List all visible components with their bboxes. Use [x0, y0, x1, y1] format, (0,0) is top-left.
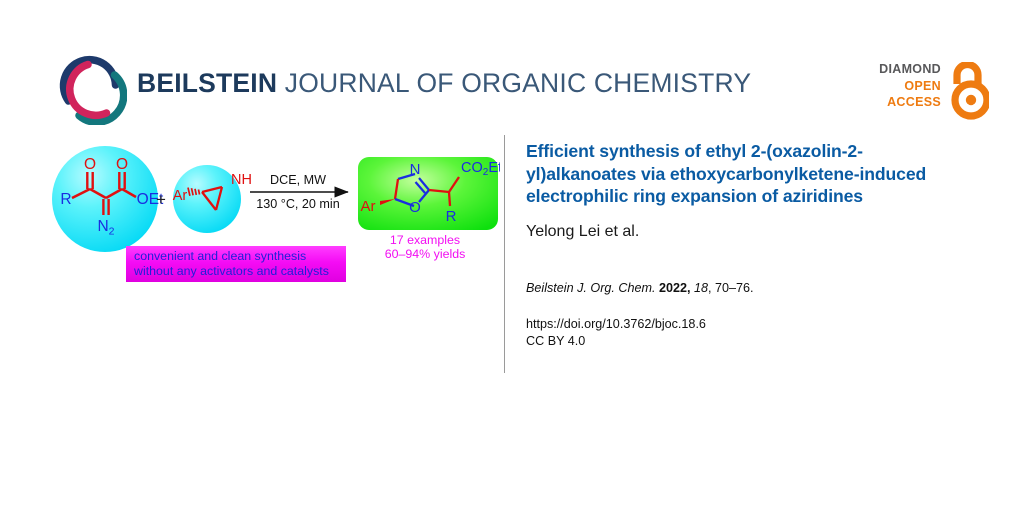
- diamond-open-access-badge: DIAMOND OPEN ACCESS: [869, 60, 989, 122]
- oa-label-diamond: DIAMOND: [879, 61, 941, 78]
- open-access-label-group: DIAMOND OPEN ACCESS: [879, 61, 941, 111]
- graphical-abstract-canvas: O O R OEt N2 + Ar NH: [30, 132, 500, 387]
- reactant-aziridine-group: Ar NH: [173, 165, 252, 233]
- beilstein-swirl-logo-icon: [57, 55, 127, 125]
- reactant-diazo-group: O O R OEt N2: [52, 146, 164, 252]
- article-authors: Yelong Lei et al.: [526, 222, 968, 242]
- label-oxygen-right: O: [116, 156, 128, 173]
- reaction-arrow-group: DCE, MW 130 °C, 20 min: [250, 173, 348, 211]
- article-title[interactable]: Efficient synthesis of ethyl 2-(oxazolin…: [526, 140, 968, 208]
- label-oxygen-product: O: [409, 199, 421, 216]
- label-co2et: CO2Et: [461, 160, 500, 178]
- article-info-panel: Efficient synthesis of ethyl 2-(oxazolin…: [526, 140, 968, 351]
- label-nh: NH: [231, 172, 252, 188]
- journal-title-rest: JOURNAL OF ORGANIC CHEMISTRY: [285, 68, 751, 98]
- results-line-yields: 60–94% yields: [385, 247, 466, 261]
- open-padlock-icon: [947, 62, 989, 120]
- label-r-group: R: [60, 191, 71, 208]
- label-oxygen-left: O: [84, 156, 96, 173]
- plus-sign: +: [156, 190, 166, 209]
- highlight-line-2: without any activators and catalysts: [133, 264, 329, 278]
- graphical-abstract: O O R OEt N2 + Ar NH: [30, 132, 500, 382]
- product-oxazoline-group: N O Ar CO2Et R: [358, 157, 500, 230]
- oa-label-access: ACCESS: [879, 94, 941, 111]
- label-nitrogen-product: N: [410, 161, 421, 178]
- article-citation: Beilstein J. Org. Chem. 2022, 18, 70–76.: [526, 280, 968, 297]
- masthead: BEILSTEIN JOURNAL OF ORGANIC CHEMISTRY D…: [0, 0, 1024, 132]
- citation-volume: 18: [694, 281, 708, 295]
- arrow-condition-below: 130 °C, 20 min: [256, 197, 339, 211]
- label-aryl-product: Ar: [361, 198, 376, 215]
- arrow-condition-above: DCE, MW: [270, 173, 326, 187]
- journal-title: BEILSTEIN JOURNAL OF ORGANIC CHEMISTRY: [137, 68, 751, 99]
- citation-pages: , 70–76.: [708, 281, 754, 295]
- journal-title-bold: BEILSTEIN: [137, 68, 277, 98]
- doi-link[interactable]: https://doi.org/10.3762/bjoc.18.6: [526, 316, 968, 334]
- results-line-examples: 17 examples: [390, 233, 460, 247]
- highlight-box: convenient and clean synthesis without a…: [126, 246, 346, 282]
- citation-journal: Beilstein J. Org. Chem.: [526, 281, 655, 295]
- vertical-divider: [504, 135, 505, 373]
- label-aryl-reactant: Ar: [173, 188, 188, 204]
- citation-year: 2022,: [659, 281, 691, 295]
- label-r-product: R: [446, 208, 457, 225]
- license-label: CC BY 4.0: [526, 333, 968, 351]
- article-doi-block: https://doi.org/10.3762/bjoc.18.6 CC BY …: [526, 316, 968, 351]
- oa-label-open: OPEN: [879, 78, 941, 95]
- highlight-line-1: convenient and clean synthesis: [134, 249, 306, 263]
